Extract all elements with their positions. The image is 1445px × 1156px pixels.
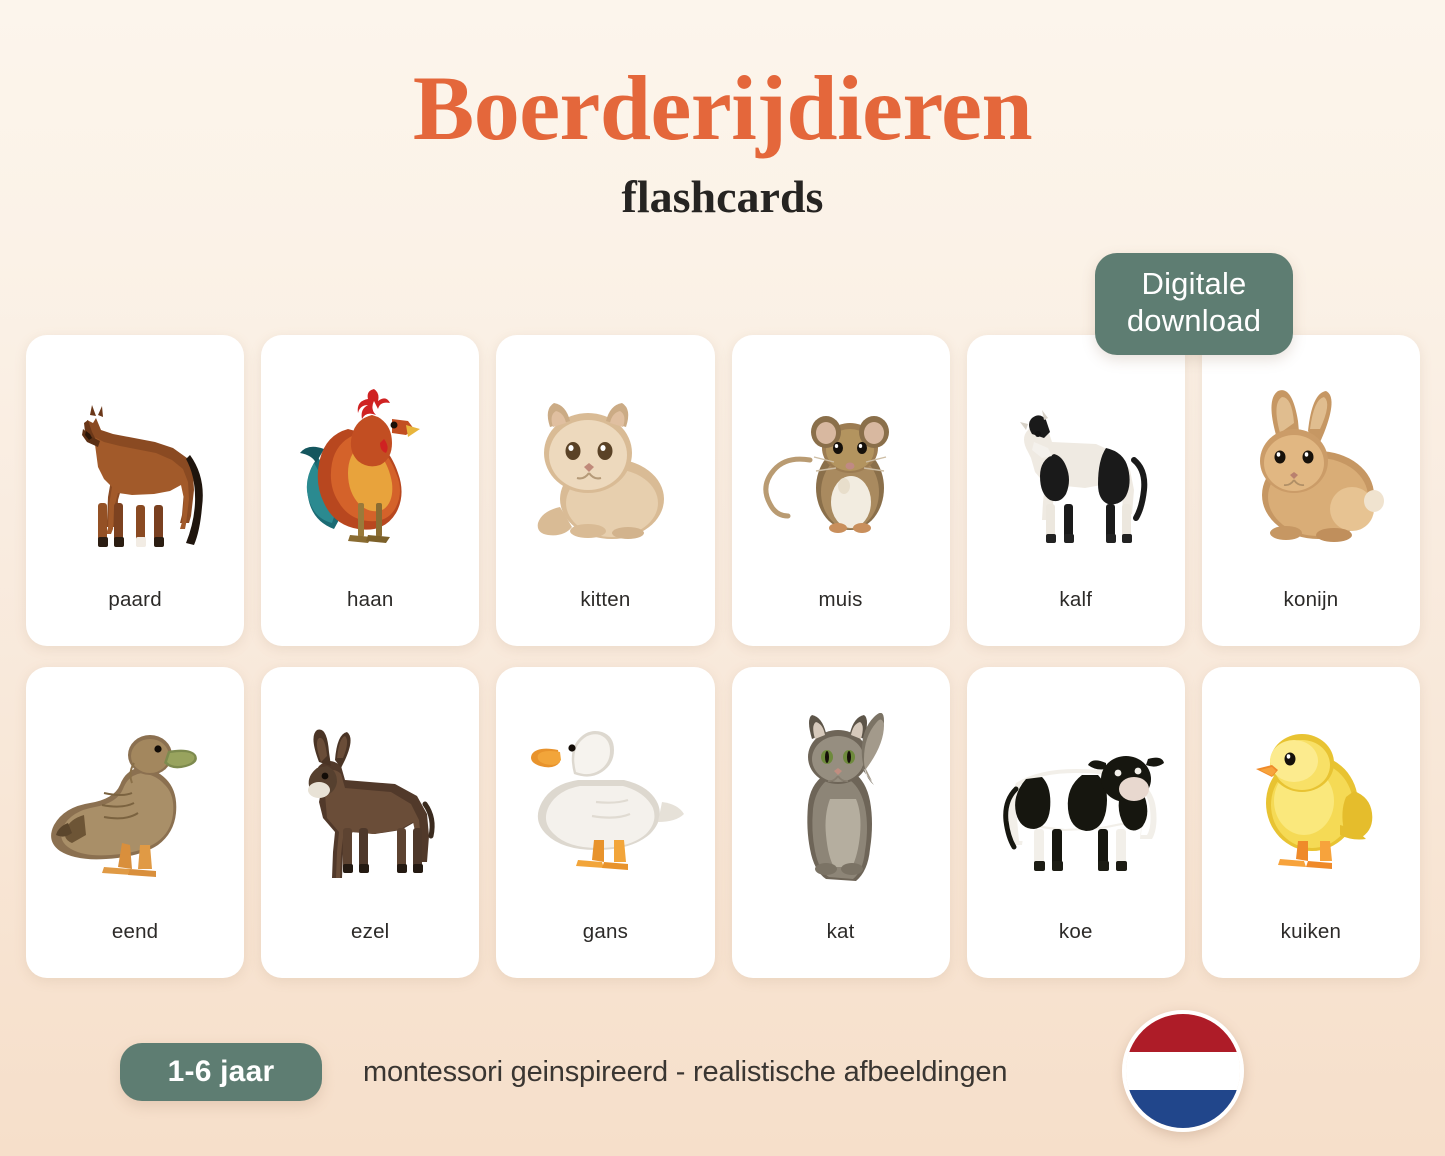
flashcard-kat[interactable]: kat — [732, 667, 950, 978]
flashcard-kitten[interactable]: kitten — [496, 335, 714, 646]
flashcard-label: ezel — [351, 922, 389, 943]
page-title: Boerderijdieren — [0, 62, 1445, 156]
flashcard-label: gans — [583, 922, 628, 943]
flag-stripe-white — [1126, 1052, 1240, 1090]
page-header: Boerderijdieren flashcards — [0, 0, 1445, 222]
flashcard-label: kitten — [580, 590, 630, 611]
goose-photo-icon — [496, 667, 714, 922]
flag-stripe-blue — [1126, 1090, 1240, 1128]
flashcard-label: kalf — [1059, 590, 1092, 611]
kitten-photo-icon — [496, 335, 714, 590]
flashcard-ezel[interactable]: ezel — [261, 667, 479, 978]
flag-stripe-red — [1126, 1014, 1240, 1052]
flashcard-konijn[interactable]: konijn — [1202, 335, 1420, 646]
flashcard-label: kat — [827, 922, 855, 943]
calf-photo-icon — [967, 335, 1185, 590]
chick-photo-icon — [1202, 667, 1420, 922]
rooster-photo-icon — [261, 335, 479, 590]
flashcard-grid: paard — [26, 335, 1420, 978]
mouse-photo-icon — [732, 335, 950, 590]
flashcard-label: konijn — [1284, 590, 1339, 611]
age-range-badge: 1-6 jaar — [120, 1043, 322, 1101]
cow-photo-icon — [967, 667, 1185, 922]
rabbit-photo-icon — [1202, 335, 1420, 590]
flashcard-gans[interactable]: gans — [496, 667, 714, 978]
flashcard-label: muis — [819, 590, 863, 611]
flashcard-muis[interactable]: muis — [732, 335, 950, 646]
flashcard-koe[interactable]: koe — [967, 667, 1185, 978]
footer-tagline: montessori geinspireerd - realistische a… — [363, 1054, 1103, 1092]
flashcard-paard[interactable]: paard — [26, 335, 244, 646]
flashcard-eend[interactable]: eend — [26, 667, 244, 978]
digital-download-badge: Digitale download — [1095, 253, 1293, 355]
flashcard-label: haan — [347, 590, 393, 611]
page-subtitle: flashcards — [0, 172, 1445, 223]
donkey-photo-icon — [261, 667, 479, 922]
netherlands-flag-icon — [1122, 1010, 1244, 1132]
cat-photo-icon — [732, 667, 950, 922]
flashcard-kalf[interactable]: kalf — [967, 335, 1185, 646]
flashcard-label: kuiken — [1281, 922, 1341, 943]
flashcard-kuiken[interactable]: kuiken — [1202, 667, 1420, 978]
flashcard-label: koe — [1059, 922, 1093, 943]
duck-photo-icon — [26, 667, 244, 922]
horse-photo-icon — [26, 335, 244, 590]
flashcard-label: paard — [108, 590, 161, 611]
flashcard-label: eend — [112, 922, 158, 943]
flashcard-haan[interactable]: haan — [261, 335, 479, 646]
